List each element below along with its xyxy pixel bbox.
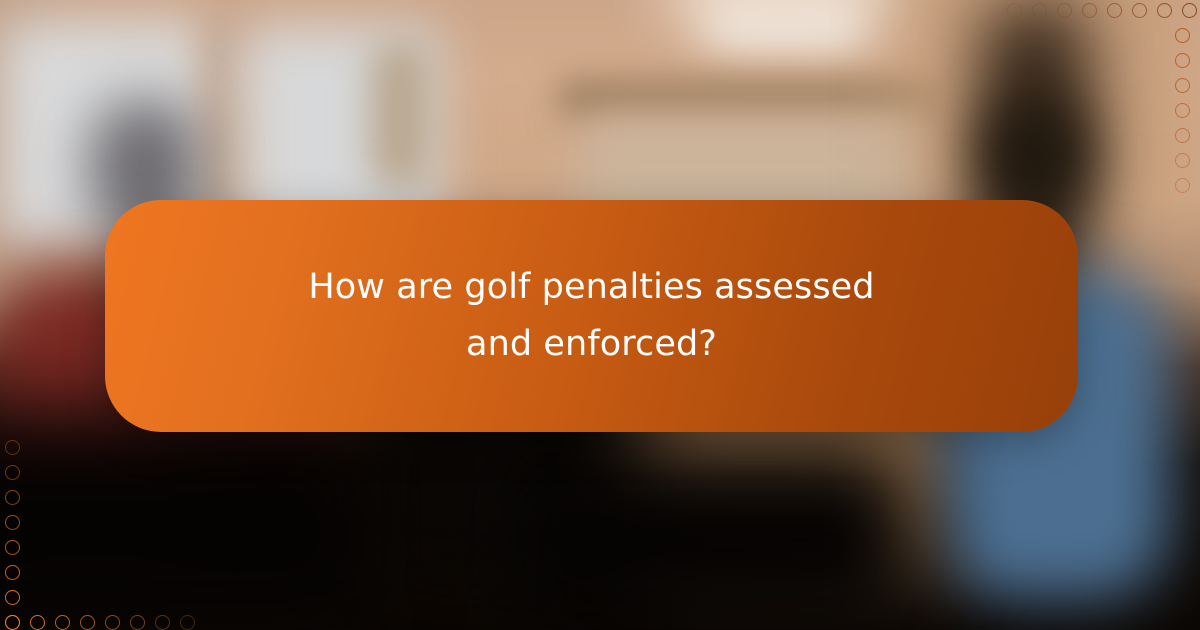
bg-blob-ceiling-light [700, 0, 870, 52]
bg-blob-doorframe [560, 80, 940, 120]
bg-blob-vase [370, 40, 430, 190]
bg-blob-foreground-right [500, 440, 920, 630]
question-title: How are golf penalties assessed and enfo… [272, 259, 912, 373]
question-card: How are golf penalties assessed and enfo… [105, 200, 1078, 432]
bg-blob-foreground-left [0, 410, 380, 630]
screenshot-canvas: How are golf penalties assessed and enfo… [0, 0, 1200, 630]
